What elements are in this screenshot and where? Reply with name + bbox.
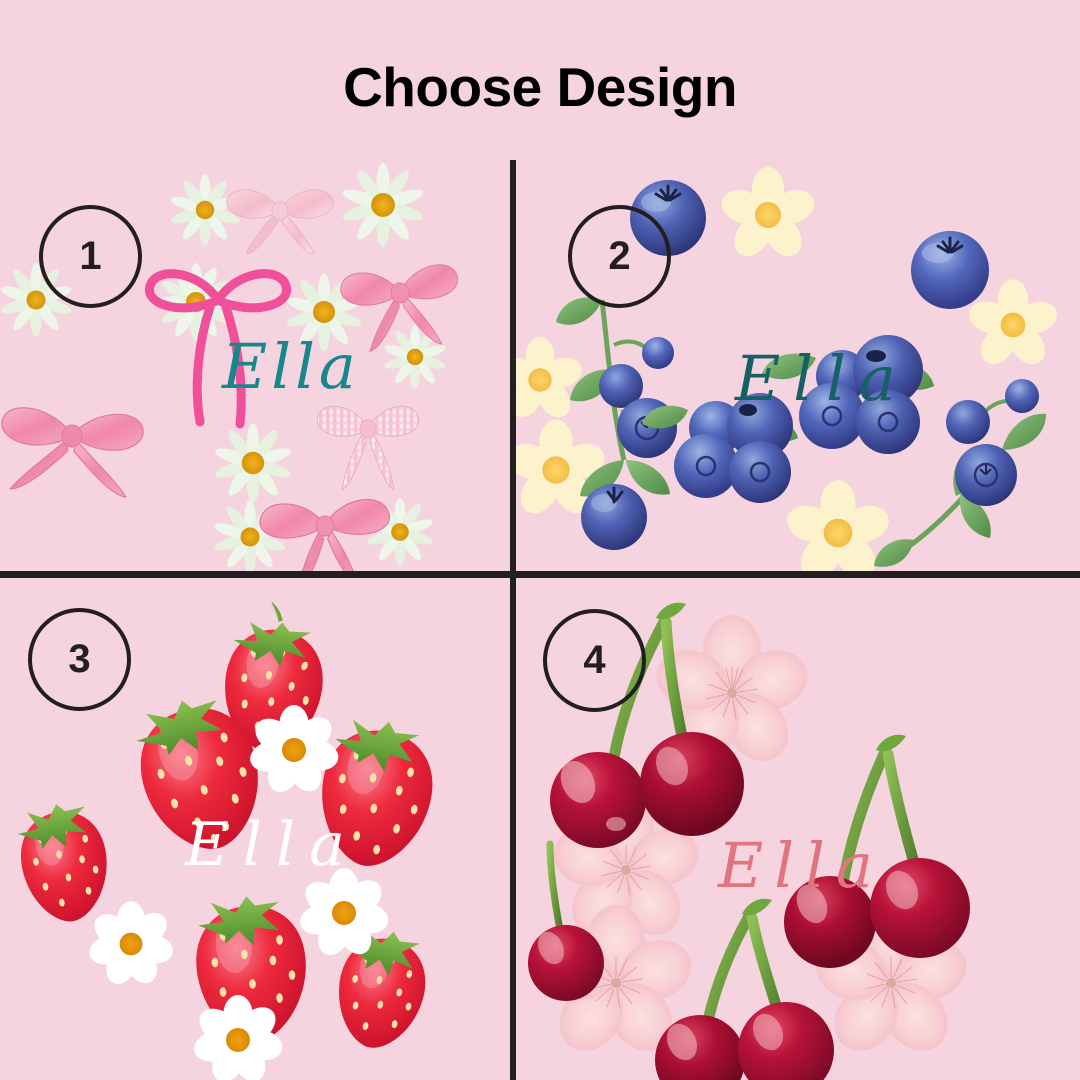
cherry-pair-middle-right — [784, 735, 970, 968]
option-number-badge-2[interactable]: 2 — [568, 205, 671, 308]
hot-pink-bow — [149, 274, 286, 424]
strawberry-far-left — [14, 798, 115, 927]
white-daisy-3 — [86, 901, 176, 989]
cream-flower-3 — [516, 337, 586, 424]
option-number-badge-3[interactable]: 3 — [28, 608, 131, 711]
cream-flower-1 — [717, 167, 818, 263]
blueberry-right — [911, 231, 989, 309]
option-number-badge-1[interactable]: 1 — [39, 205, 142, 308]
daisy-4 — [341, 163, 425, 247]
bow-bottom-center — [259, 498, 393, 571]
pale-bow-top — [227, 190, 334, 254]
daisy-7 — [213, 423, 292, 503]
page-title: Choose Design — [0, 60, 1080, 115]
option-number-badge-4[interactable]: 4 — [543, 609, 646, 712]
satin-bow-left — [0, 406, 144, 498]
blueberry-bottom-left — [581, 484, 647, 550]
gingham-bow — [317, 406, 418, 490]
horizontal-divider — [0, 571, 1080, 578]
daisy-5 — [383, 325, 447, 389]
design-chooser-canvas: Choose Design — [0, 0, 1080, 1080]
